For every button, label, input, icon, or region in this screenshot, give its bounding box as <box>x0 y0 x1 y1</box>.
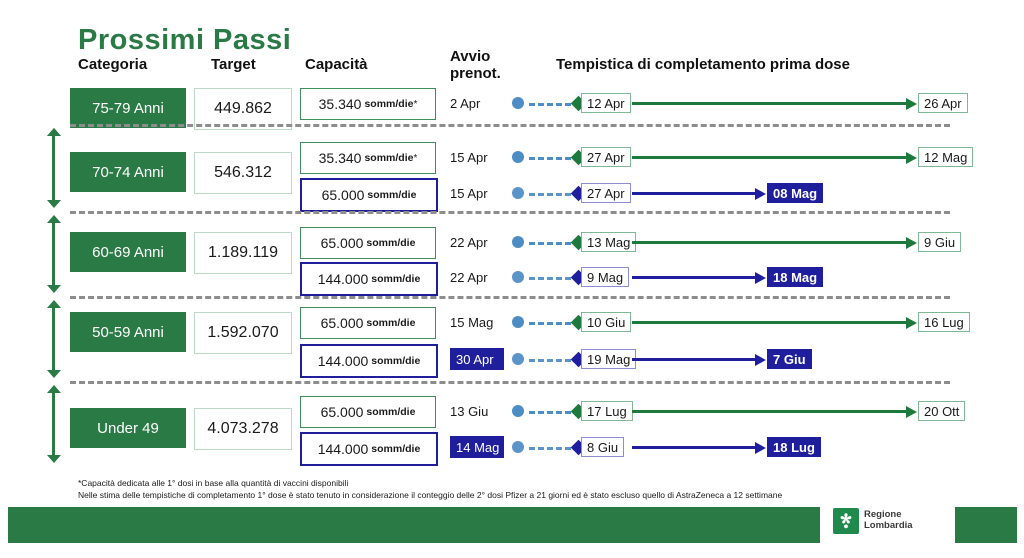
lombardy-rose-icon <box>833 508 859 534</box>
timeline-end-date-box: 16 Lug <box>918 312 970 332</box>
column-header-target: Target <box>211 56 256 73</box>
timeline-dashed-connector <box>529 193 571 196</box>
category-chip: Under 49 <box>70 408 186 448</box>
footer-bar-right <box>955 507 1017 543</box>
timeline-end-date-highlight: 18 Lug <box>767 437 821 457</box>
capacity-value: 65.000 <box>321 404 364 420</box>
capacity-value: 144.000 <box>318 353 369 369</box>
duration-arrow-head-icon <box>755 272 766 284</box>
category-chip: 60-69 Anni <box>70 232 186 272</box>
group-range-arrow <box>47 385 61 463</box>
duration-arrow-head-icon <box>906 152 917 164</box>
duration-arrow-line <box>632 321 907 324</box>
duration-arrow-line <box>632 276 756 279</box>
timeline-end-date-highlight: 7 Giu <box>767 349 812 369</box>
range-arrow-down-icon <box>47 285 61 293</box>
category-chip: 50-59 Anni <box>70 312 186 352</box>
capacity-box: 144.000somm/die <box>300 432 438 466</box>
logo-line-2: Lombardia <box>864 521 913 532</box>
footer-bar-left <box>8 507 820 543</box>
duration-arrow-line <box>632 446 756 449</box>
avvio-prenot-date: 2 Apr <box>450 92 510 114</box>
capacity-unit: somm/die <box>371 355 420 367</box>
regione-lombardia-logo: Regione Lombardia <box>833 508 913 534</box>
avvio-prenot-date: 15 Mag <box>450 311 510 333</box>
duration-arrow-head-icon <box>755 442 766 454</box>
capacity-box: 65.000somm/die <box>300 178 438 212</box>
capacity-unit: somm/die <box>366 317 415 329</box>
capacity-footnote-marker: * <box>413 153 417 164</box>
target-value-box: 4.073.278 <box>194 408 292 450</box>
timeline-start-dot <box>512 187 524 199</box>
capacity-unit: somm/die <box>366 406 415 418</box>
duration-arrow-line <box>632 358 756 361</box>
timeline-start-dot <box>512 97 524 109</box>
column-header-avvio-prenot: Avvio prenot. <box>450 48 501 83</box>
range-arrow-stem <box>52 221 55 287</box>
avvio-prenot-date: 13 Giu <box>450 400 510 422</box>
timeline-start-dot <box>512 236 524 248</box>
capacity-box: 144.000somm/die <box>300 344 438 378</box>
timeline-dashed-connector <box>529 411 571 414</box>
capacity-box: 35.340somm/die* <box>300 142 436 174</box>
timeline-start-date-box: 27 Apr <box>581 183 631 203</box>
capacity-unit: somm/die <box>371 443 420 455</box>
column-header-categoria: Categoria <box>78 56 147 73</box>
capacity-value: 65.000 <box>321 315 364 331</box>
range-arrow-stem <box>52 306 55 372</box>
duration-arrow-head-icon <box>906 317 917 329</box>
timeline-end-date-box: 9 Giu <box>918 232 961 252</box>
range-arrow-down-icon <box>47 200 61 208</box>
timeline-dashed-connector <box>529 157 571 160</box>
capacity-box: 65.000somm/die <box>300 307 436 339</box>
timeline-dashed-connector <box>529 277 571 280</box>
duration-arrow-head-icon <box>755 354 766 366</box>
group-range-arrow <box>47 300 61 378</box>
group-range-arrow <box>47 215 61 293</box>
capacity-unit: somm/die <box>364 152 413 164</box>
timeline-start-date-box: 8 Giu <box>581 437 624 457</box>
slide-root: Prossimi Passi Categoria Target Capacità… <box>0 0 1024 558</box>
avvio-prenot-highlight: 14 Mag <box>450 436 504 458</box>
timeline-start-dot <box>512 316 524 328</box>
category-chip: 70-74 Anni <box>70 152 186 192</box>
timeline-end-date-box: 12 Mag <box>918 147 973 167</box>
target-value-box: 1.592.070 <box>194 312 292 354</box>
timeline-end-date-highlight: 18 Mag <box>767 267 823 287</box>
timeline-start-dot <box>512 151 524 163</box>
duration-arrow-line <box>632 156 907 159</box>
duration-arrow-head-icon <box>906 98 917 110</box>
timeline-start-date-box: 27 Apr <box>581 147 631 167</box>
avvio-prenot-date: 22 Apr <box>450 231 510 253</box>
timeline-dashed-connector <box>529 359 571 362</box>
regione-lombardia-wordmark: Regione Lombardia <box>864 510 913 532</box>
column-header-avvio-line2: prenot. <box>450 65 501 82</box>
avvio-prenot-date: 15 Apr <box>450 146 510 168</box>
timeline-start-date-box: 12 Apr <box>581 93 631 113</box>
capacity-unit: somm/die <box>366 237 415 249</box>
duration-arrow-line <box>632 102 907 105</box>
duration-arrow-line <box>632 241 907 244</box>
capacity-value: 65.000 <box>322 187 365 203</box>
capacity-box: 65.000somm/die <box>300 227 436 259</box>
range-arrow-down-icon <box>47 370 61 378</box>
timeline-dashed-connector <box>529 242 571 245</box>
timeline-start-dot <box>512 271 524 283</box>
group-separator <box>70 296 950 299</box>
capacity-unit: somm/die <box>371 273 420 285</box>
timeline-start-date-box: 13 Mag <box>581 232 636 252</box>
timeline-start-dot <box>512 441 524 453</box>
capacity-footnote-marker: * <box>413 99 417 110</box>
capacity-unit: somm/die <box>364 98 413 110</box>
group-separator <box>70 381 950 384</box>
capacity-value: 65.000 <box>321 235 364 251</box>
duration-arrow-head-icon <box>755 188 766 200</box>
target-value-box: 546.312 <box>194 152 292 194</box>
column-header-tempistica: Tempistica di completamento prima dose <box>556 56 850 73</box>
timeline-start-date-box: 17 Lug <box>581 401 633 421</box>
capacity-box: 65.000somm/die <box>300 396 436 428</box>
duration-arrow-line <box>632 192 756 195</box>
range-arrow-down-icon <box>47 455 61 463</box>
page-title: Prossimi Passi <box>78 24 291 57</box>
capacity-unit: somm/die <box>367 189 416 201</box>
column-header-capacita: Capacità <box>305 56 368 73</box>
range-arrow-stem <box>52 391 55 457</box>
timeline-start-date-box: 10 Giu <box>581 312 631 332</box>
group-separator <box>70 211 950 214</box>
timeline-start-date-box: 19 Mag <box>581 349 636 369</box>
capacity-box: 144.000somm/die <box>300 262 438 296</box>
footnote-2: Nelle stima delle tempistiche di complet… <box>78 490 782 500</box>
timeline-end-date-box: 20 Ott <box>918 401 965 421</box>
capacity-value: 144.000 <box>318 441 369 457</box>
capacity-box: 35.340somm/die* <box>300 88 436 120</box>
avvio-prenot-highlight: 30 Apr <box>450 348 504 370</box>
capacity-value: 35.340 <box>319 150 362 166</box>
range-arrow-stem <box>52 134 55 202</box>
capacity-value: 144.000 <box>318 271 369 287</box>
timeline-dashed-connector <box>529 447 571 450</box>
column-header-avvio-line1: Avvio <box>450 48 501 65</box>
timeline-start-dot <box>512 353 524 365</box>
group-range-arrow <box>47 128 61 208</box>
timeline-end-date-box: 26 Apr <box>918 93 968 113</box>
duration-arrow-head-icon <box>906 237 917 249</box>
footnote-1: *Capacità dedicata alle 1° dosi in base … <box>78 478 348 488</box>
timeline-start-date-box: 9 Mag <box>581 267 629 287</box>
avvio-prenot-date: 22 Apr <box>450 266 510 288</box>
avvio-prenot-date: 15 Apr <box>450 182 510 204</box>
duration-arrow-line <box>632 410 907 413</box>
target-value-box: 1.189.119 <box>194 232 292 274</box>
capacity-value: 35.340 <box>319 96 362 112</box>
group-separator <box>70 124 950 127</box>
timeline-start-dot <box>512 405 524 417</box>
timeline-dashed-connector <box>529 103 571 106</box>
category-chip: 75-79 Anni <box>70 88 186 128</box>
timeline-dashed-connector <box>529 322 571 325</box>
duration-arrow-head-icon <box>906 406 917 418</box>
timeline-end-date-highlight: 08 Mag <box>767 183 823 203</box>
